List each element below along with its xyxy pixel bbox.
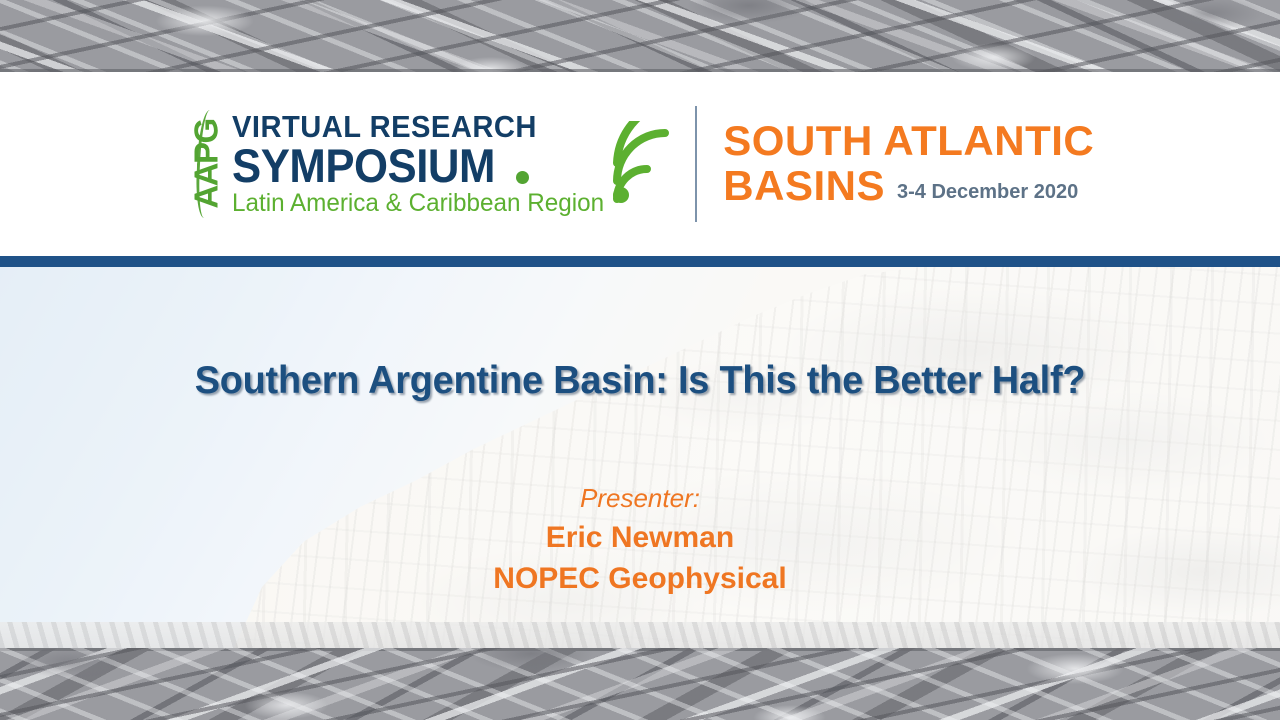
header-bar: AAPG VIRTUAL RESEARCH SYMPOSIUM Latin Am… xyxy=(0,72,1280,256)
event-title-block: SOUTH ATLANTIC BASINS 3-4 December 2020 xyxy=(723,108,1094,220)
event-title-line2: BASINS xyxy=(723,164,885,209)
top-texture-band xyxy=(0,0,1280,72)
page-title: Southern Argentine Basin: Is This the Be… xyxy=(19,359,1261,403)
event-title-line1: SOUTH ATLANTIC xyxy=(723,119,1094,164)
title-slide: AAPG VIRTUAL RESEARCH SYMPOSIUM Latin Am… xyxy=(0,0,1280,720)
symposium-wordmark: VIRTUAL RESEARCH SYMPOSIUM Latin America… xyxy=(232,108,616,220)
header-inner: AAPG VIRTUAL RESEARCH SYMPOSIUM Latin Am… xyxy=(186,105,1095,223)
wordmark-line-symposium: SYMPOSIUM xyxy=(232,143,495,189)
texture-layer-blotches xyxy=(0,648,1280,720)
presenter-organization: NOPEC Geophysical xyxy=(0,562,1280,596)
presenter-label: Presenter: xyxy=(0,483,1280,514)
green-dot-icon xyxy=(516,171,529,184)
bottom-texture-band xyxy=(0,648,1280,720)
header-divider xyxy=(695,106,697,222)
texture-layer-blotches xyxy=(0,0,1280,72)
aapg-logo: AAPG xyxy=(186,108,226,220)
wordmark-line-symposium-row: SYMPOSIUM xyxy=(232,143,616,189)
event-date: 3-4 December 2020 xyxy=(897,181,1078,204)
presenter-name: Eric Newman xyxy=(0,521,1280,555)
aapg-wordmark-text: AAPG xyxy=(189,119,222,208)
wordmark-region-line: Latin America & Caribbean Region xyxy=(232,190,604,218)
wifi-signal-icon xyxy=(611,121,673,207)
slide-content: Southern Argentine Basin: Is This the Be… xyxy=(0,267,1280,648)
event-title-line2-row: BASINS 3-4 December 2020 xyxy=(723,164,1094,209)
header-accent-rule xyxy=(0,256,1280,267)
